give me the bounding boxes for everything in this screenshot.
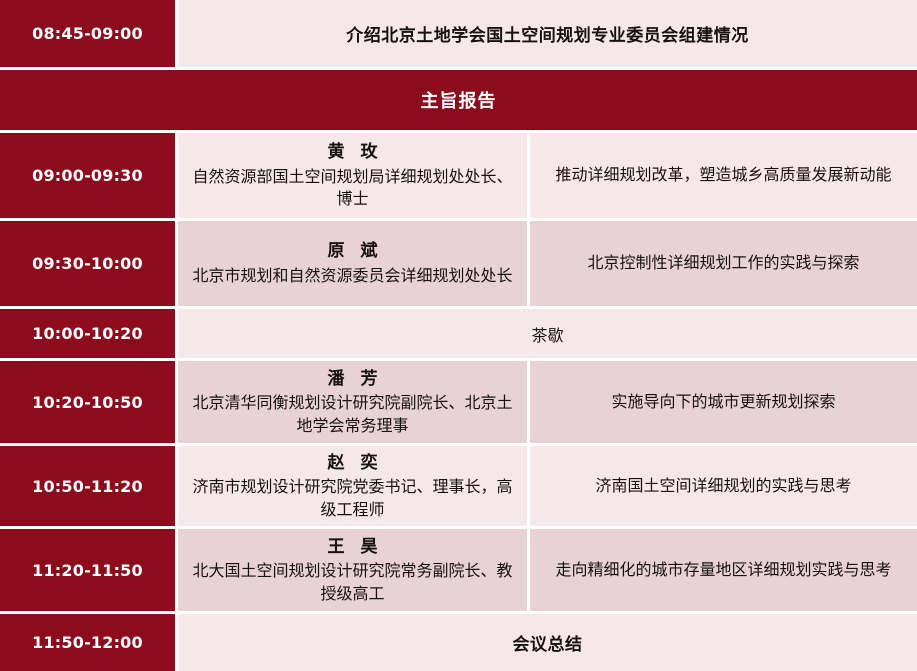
speaker-cell: 黄 玫 自然资源部国土空间规划局详细规划处处长、博士 xyxy=(178,133,530,218)
table-row-break: 10:00-10:20 茶歇 xyxy=(0,309,917,361)
speaker-name: 潘 芳 xyxy=(323,367,383,393)
closing-label-cell: 会议总结 xyxy=(178,614,917,671)
speaker-cell: 潘 芳 北京清华同衡规划设计研究院副院长、北京土地学会常务理事 xyxy=(178,361,530,443)
section-banner: 主旨报告 xyxy=(0,70,917,133)
table-row-session-5: 11:20-11:50 王 昊 北大国土空间规划设计研究院常务副院长、教授级高工… xyxy=(0,529,917,614)
table-row-session-4: 10:50-11:20 赵 奕 济南市规划设计研究院党委书记、理事长，高级工程师… xyxy=(0,446,917,529)
time-cell: 10:00-10:20 xyxy=(0,309,178,358)
topic-cell: 走向精细化的城市存量地区详细规划实践与思考 xyxy=(530,529,917,611)
table-row-session-1: 09:00-09:30 黄 玫 自然资源部国土空间规划局详细规划处处长、博士 推… xyxy=(0,133,917,221)
speaker-name: 黄 玫 xyxy=(323,140,383,166)
time-cell: 09:30-10:00 xyxy=(0,221,178,306)
speaker-name: 原 斌 xyxy=(323,239,383,265)
time-cell: 08:45-09:00 xyxy=(0,0,178,67)
agenda-table: 08:45-09:00 介绍北京土地学会国土空间规划专业委员会组建情况 主旨报告… xyxy=(0,0,917,671)
topic-cell: 北京控制性详细规划工作的实践与探索 xyxy=(530,221,917,306)
intro-title-cell: 介绍北京土地学会国土空间规划专业委员会组建情况 xyxy=(178,0,917,67)
table-row-intro: 08:45-09:00 介绍北京土地学会国土空间规划专业委员会组建情况 xyxy=(0,0,917,70)
topic-cell: 推动详细规划改革，塑造城乡高质量发展新动能 xyxy=(530,133,917,218)
speaker-name: 赵 奕 xyxy=(323,451,383,477)
break-label-cell: 茶歇 xyxy=(178,309,917,358)
speaker-cell: 王 昊 北大国土空间规划设计研究院常务副院长、教授级高工 xyxy=(178,529,530,611)
time-cell: 11:20-11:50 xyxy=(0,529,178,611)
speaker-title: 济南市规划设计研究院党委书记、理事长，高级工程师 xyxy=(188,476,517,521)
speaker-title: 自然资源部国土空间规划局详细规划处处长、博士 xyxy=(188,166,517,211)
speaker-cell: 赵 奕 济南市规划设计研究院党委书记、理事长，高级工程师 xyxy=(178,446,530,526)
time-cell: 10:50-11:20 xyxy=(0,446,178,526)
topic-cell: 济南国土空间详细规划的实践与思考 xyxy=(530,446,917,526)
time-cell: 10:20-10:50 xyxy=(0,361,178,443)
time-cell: 11:50-12:00 xyxy=(0,614,178,671)
time-cell: 09:00-09:30 xyxy=(0,133,178,218)
table-row-closing: 11:50-12:00 会议总结 xyxy=(0,614,917,671)
table-row-session-3: 10:20-10:50 潘 芳 北京清华同衡规划设计研究院副院长、北京土地学会常… xyxy=(0,361,917,446)
speaker-cell: 原 斌 北京市规划和自然资源委员会详细规划处处长 xyxy=(178,221,530,306)
speaker-title: 北京清华同衡规划设计研究院副院长、北京土地学会常务理事 xyxy=(188,392,517,437)
speaker-name: 王 昊 xyxy=(323,535,383,561)
topic-cell: 实施导向下的城市更新规划探索 xyxy=(530,361,917,443)
table-row-session-2: 09:30-10:00 原 斌 北京市规划和自然资源委员会详细规划处处长 北京控… xyxy=(0,221,917,309)
speaker-title: 北大国土空间规划设计研究院常务副院长、教授级高工 xyxy=(188,560,517,605)
speaker-title: 北京市规划和自然资源委员会详细规划处处长 xyxy=(192,265,512,288)
